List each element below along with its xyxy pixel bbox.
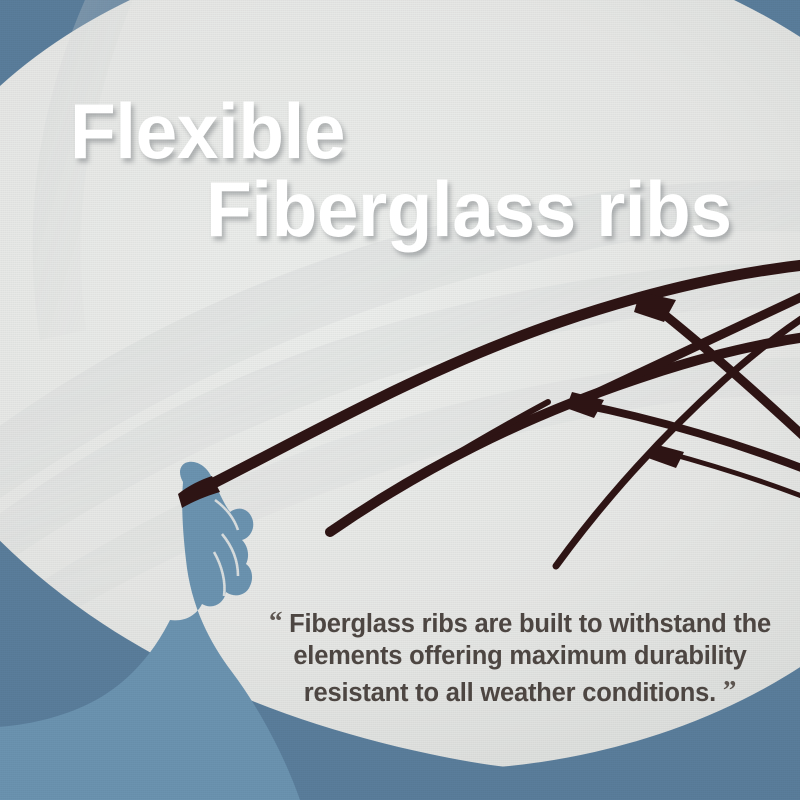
quote-line-3: resistant to all weather conditions. ” xyxy=(262,673,778,709)
quote-line-2: elements offering maximum durability xyxy=(262,640,778,672)
quote-line-1-text: Fiberglass ribs are built to withstand t… xyxy=(289,610,771,638)
quote-block: “ Fiberglass ribs are built to withstand… xyxy=(262,604,778,709)
quote-line-3-text: resistant to all weather conditions. xyxy=(304,679,716,707)
quote-open-mark: “ xyxy=(269,606,282,636)
quote-close-mark: ” xyxy=(723,675,736,705)
quote-line-1: “ Fiberglass ribs are built to withstand… xyxy=(262,604,778,640)
product-feature-poster: Flexible Fiberglass ribs “ Fiberglass ri… xyxy=(0,0,800,800)
